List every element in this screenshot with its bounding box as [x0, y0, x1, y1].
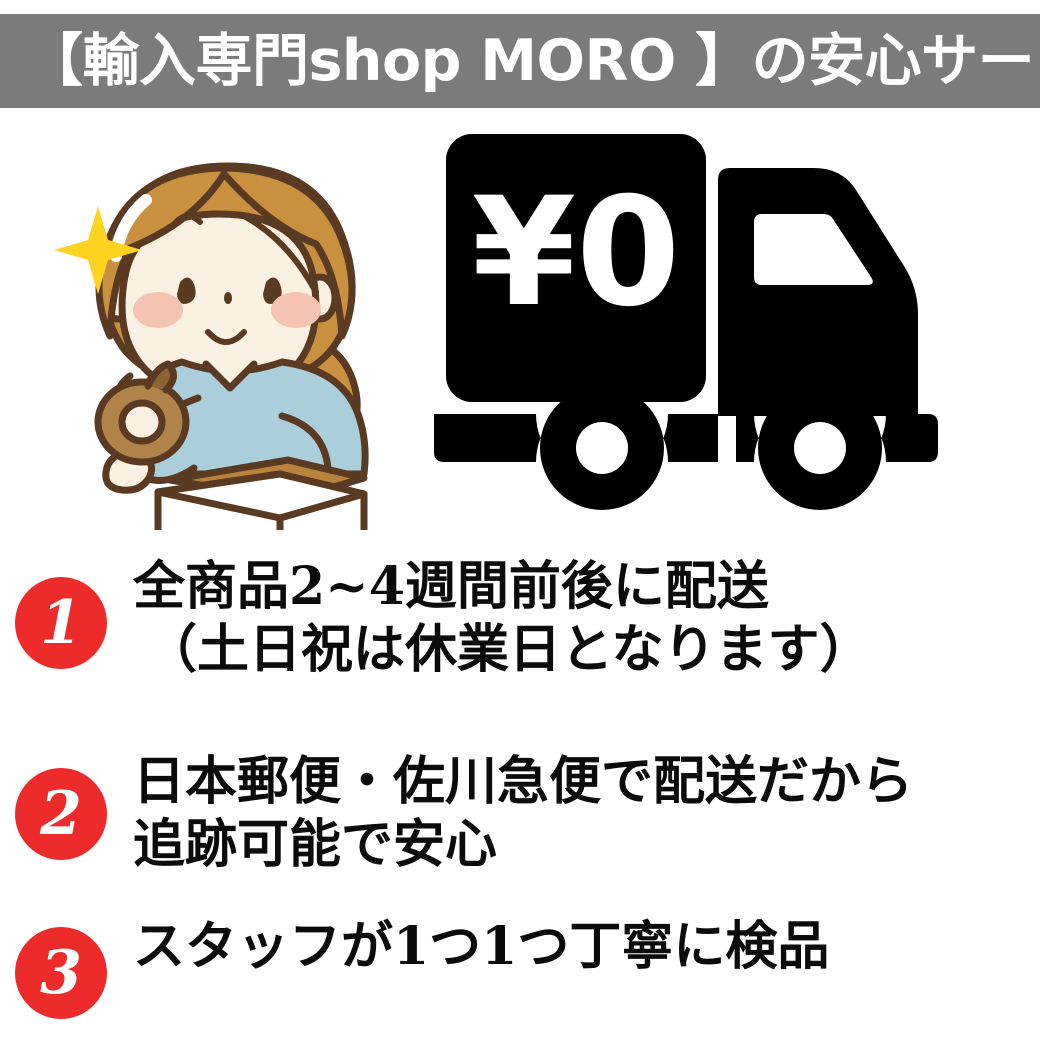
benefit-item-2: 2 日本郵便・佐川急便で配送だから 追跡可能で安心	[0, 750, 1040, 877]
benefit-line-2-1: 日本郵便・佐川急便で配送だから	[133, 750, 913, 813]
benefit-line-2-2: 追跡可能で安心	[133, 813, 913, 876]
benefit-badge-1: 1	[15, 577, 107, 669]
benefit-text-2: 日本郵便・佐川急便で配送だから 追跡可能で安心	[133, 750, 913, 877]
header-banner: 【輸入専門shop MORO 】の安心サービス	[0, 14, 1040, 108]
staff-inspecting-package-illustration	[30, 130, 410, 530]
cheek-left	[133, 292, 183, 328]
benefit-text-1: 全商品2~4週間前後に配送 （土日祝は休業日となります）	[133, 555, 871, 682]
benefit-badge-3: 3	[15, 927, 107, 1019]
benefit-item-3: 3 スタッフが1つ1つ丁寧に検品	[0, 915, 1040, 1019]
benefit-line-1-1: 全商品2~4週間前後に配送	[133, 555, 871, 618]
cheek-right	[271, 292, 321, 328]
hero-illustration-area: ¥0	[0, 112, 1040, 542]
benefit-line-3-1: スタッフが1つ1つ丁寧に検品	[133, 915, 829, 978]
benefits-list: 1 全商品2~4週間前後に配送 （土日祝は休業日となります） 2 日本郵便・佐川…	[0, 545, 1040, 1040]
nose	[224, 292, 232, 304]
magnifier-glass	[122, 403, 162, 441]
benefit-badge-2: 2	[15, 768, 107, 860]
truck-cab	[718, 168, 918, 416]
benefit-text-3: スタッフが1つ1つ丁寧に検品	[133, 915, 829, 978]
page-title: 【輸入専門shop MORO 】の安心サービス	[26, 33, 1040, 90]
girl-illustration-svg	[30, 130, 410, 530]
truck-icon-svg: ¥0	[418, 122, 1028, 522]
free-shipping-truck-icon: ¥0	[418, 122, 1028, 522]
benefit-item-1: 1 全商品2~4週間前後に配送 （土日祝は休業日となります）	[0, 555, 1040, 682]
truck-price-label: ¥0	[472, 166, 681, 340]
truck-wheel-front-hub	[794, 422, 846, 474]
benefit-line-1-2: （土日祝は休業日となります）	[133, 618, 871, 681]
truck-wheel-rear-hub	[576, 422, 628, 474]
